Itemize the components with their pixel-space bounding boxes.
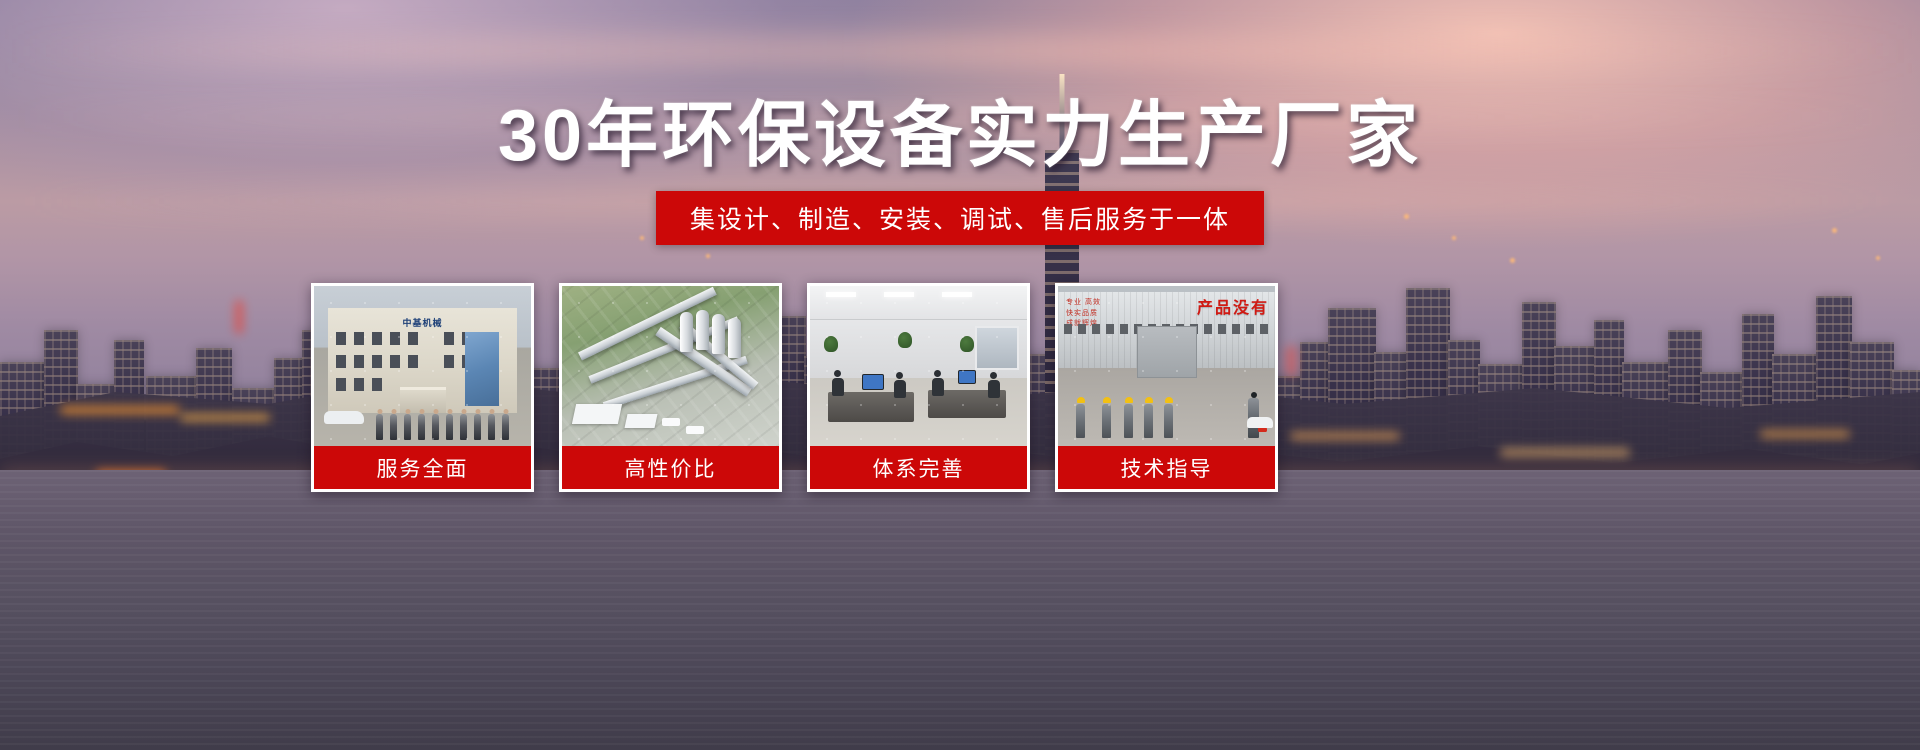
feature-card-list: 中基机械 (311, 283, 1278, 492)
page-title: 30年环保设备实力生产厂家 (0, 100, 1920, 172)
subtitle-banner: 集设计、制造、安装、调试、售后服务于一体 (656, 191, 1264, 245)
building-sign-text: 中基机械 (402, 316, 442, 329)
factory-yard-training-photo: 专业 高效快实品质成就辉煌 产品没有 (1058, 286, 1275, 446)
parked-car (324, 411, 364, 424)
parked-car (1247, 417, 1273, 428)
feature-card-label: 技术指导 (1058, 446, 1275, 489)
feature-card-label: 高性价比 (562, 446, 779, 489)
feature-card[interactable]: 高性价比 (559, 283, 782, 492)
feature-card[interactable]: 中基机械 (311, 283, 534, 492)
hero-banner: 30年环保设备实力生产厂家 集设计、制造、安装、调试、售后服务于一体 中基机械 (0, 0, 1920, 750)
company-office-building-photo: 中基机械 (314, 286, 531, 446)
aerial-plant-photo (562, 286, 779, 446)
feature-card[interactable]: 专业 高效快实品质成就辉煌 产品没有 技术指导 (1055, 283, 1278, 492)
feature-card-label: 服务全面 (314, 446, 531, 489)
feature-card-label: 体系完善 (810, 446, 1027, 489)
feature-card[interactable]: 体系完善 (807, 283, 1030, 492)
office-workspace-photo (810, 286, 1027, 446)
factory-red-sign-text: 产品没有 (1197, 294, 1269, 318)
